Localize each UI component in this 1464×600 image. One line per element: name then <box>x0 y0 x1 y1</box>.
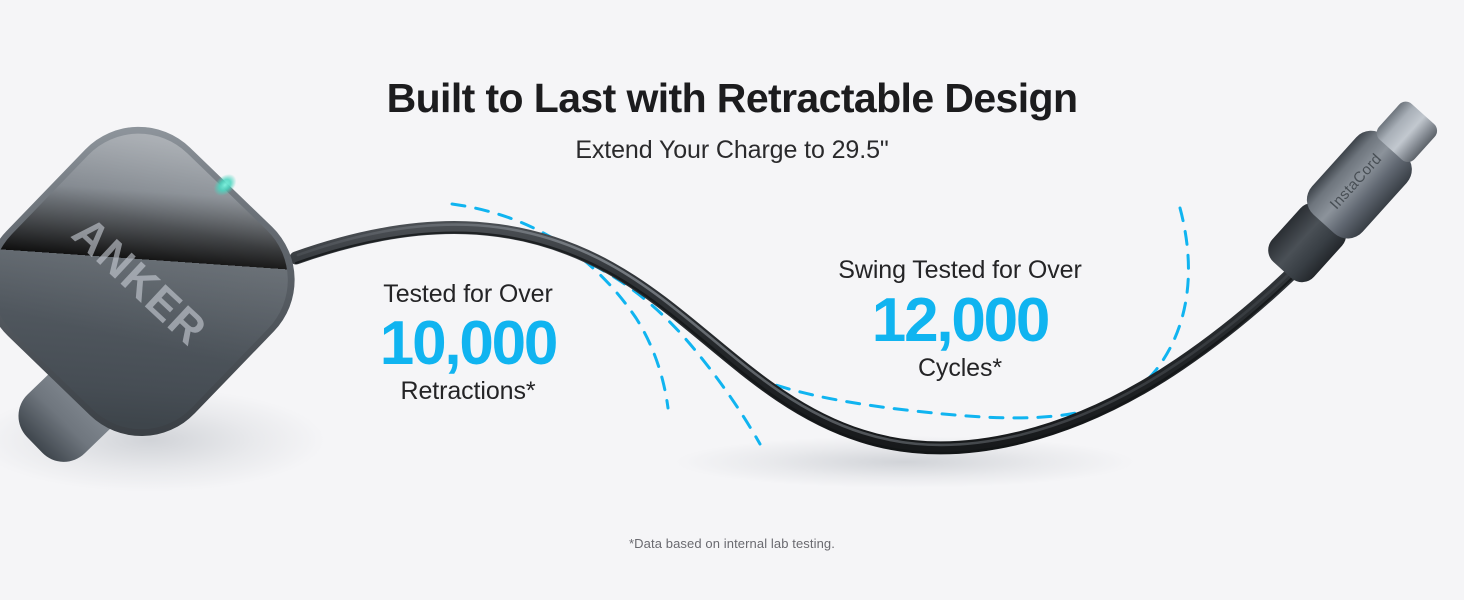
page-subtitle: Extend Your Charge to 29.5" <box>0 136 1464 165</box>
stat-swing-cycles-label-top: Swing Tested for Over <box>780 258 1140 283</box>
stat-swing-cycles-label-bottom: Cycles* <box>780 356 1140 381</box>
stat-retractions-value: 10,000 <box>288 313 648 375</box>
stat-retractions: Tested for Over 10,000 Retractions* <box>288 282 648 404</box>
header-block: Built to Last with Retractable Design Ex… <box>0 78 1464 165</box>
product-marketing-banner: ANKER InstaCord Built to Last with Retra… <box>0 0 1464 600</box>
stat-retractions-label-bottom: Retractions* <box>288 379 648 404</box>
stat-retractions-label-top: Tested for Over <box>288 282 648 307</box>
stat-swing-cycles-value: 12,000 <box>780 290 1140 352</box>
footnote-disclaimer: *Data based on internal lab testing. <box>0 536 1464 551</box>
stat-swing-cycles: Swing Tested for Over 12,000 Cycles* <box>780 258 1140 381</box>
page-title: Built to Last with Retractable Design <box>0 78 1464 119</box>
